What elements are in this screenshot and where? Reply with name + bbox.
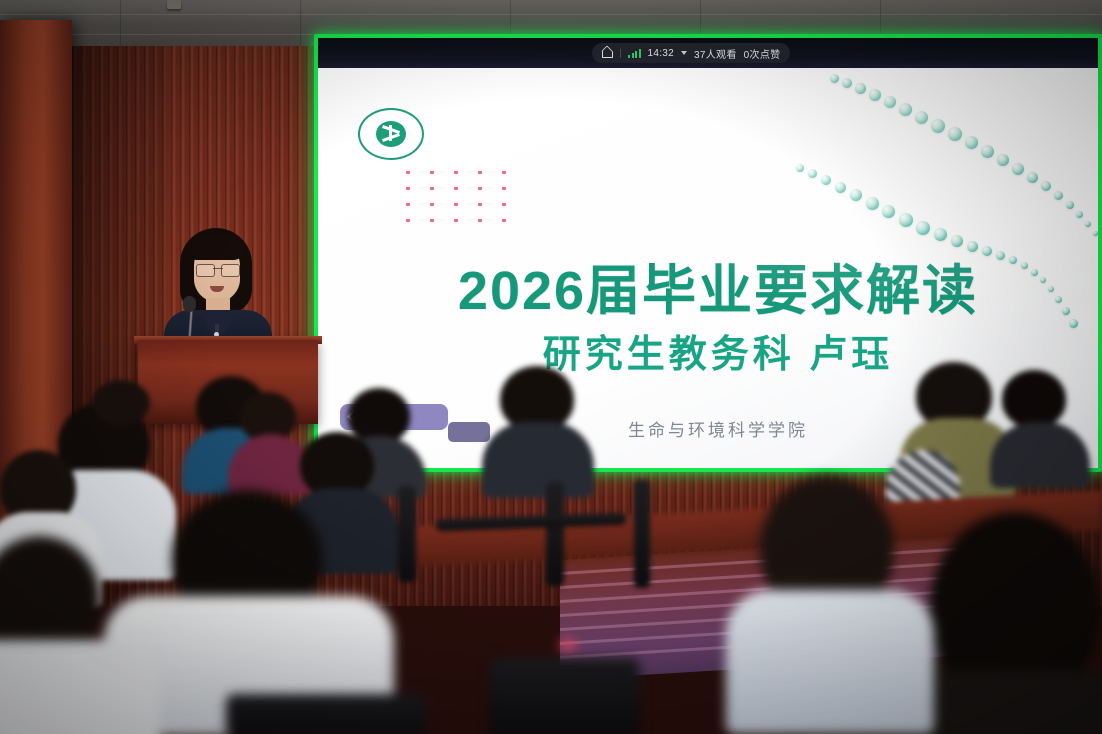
viewer-count: 37人观看 bbox=[694, 46, 737, 61]
microphone-icon bbox=[183, 296, 196, 312]
signal-bars-icon bbox=[628, 49, 641, 58]
slide-title: 2026届毕业要求解读 bbox=[388, 264, 1048, 318]
lecture-hall-photo: 14:32 37人观看 0次点赞 bbox=[0, 0, 1102, 734]
divider bbox=[620, 49, 621, 58]
video-status-bar: 14:32 37人观看 0次点赞 bbox=[318, 38, 1098, 68]
ceiling-sprinkler bbox=[167, 0, 181, 9]
status-pill: 14:32 37人观看 0次点赞 bbox=[592, 43, 790, 63]
like-count: 0次点赞 bbox=[744, 46, 781, 61]
red-dot-grid bbox=[406, 171, 526, 235]
home-icon[interactable] bbox=[602, 48, 613, 58]
university-emblem-icon bbox=[358, 108, 424, 160]
seat-frame bbox=[634, 480, 650, 588]
chevron-down-icon[interactable] bbox=[681, 51, 687, 55]
seat-frame bbox=[398, 486, 416, 582]
presenter-fringe bbox=[191, 236, 243, 260]
eyeglasses-icon bbox=[196, 264, 240, 275]
clock-time: 14:32 bbox=[648, 48, 675, 59]
audience bbox=[0, 340, 1102, 734]
seat-frame bbox=[546, 482, 564, 586]
